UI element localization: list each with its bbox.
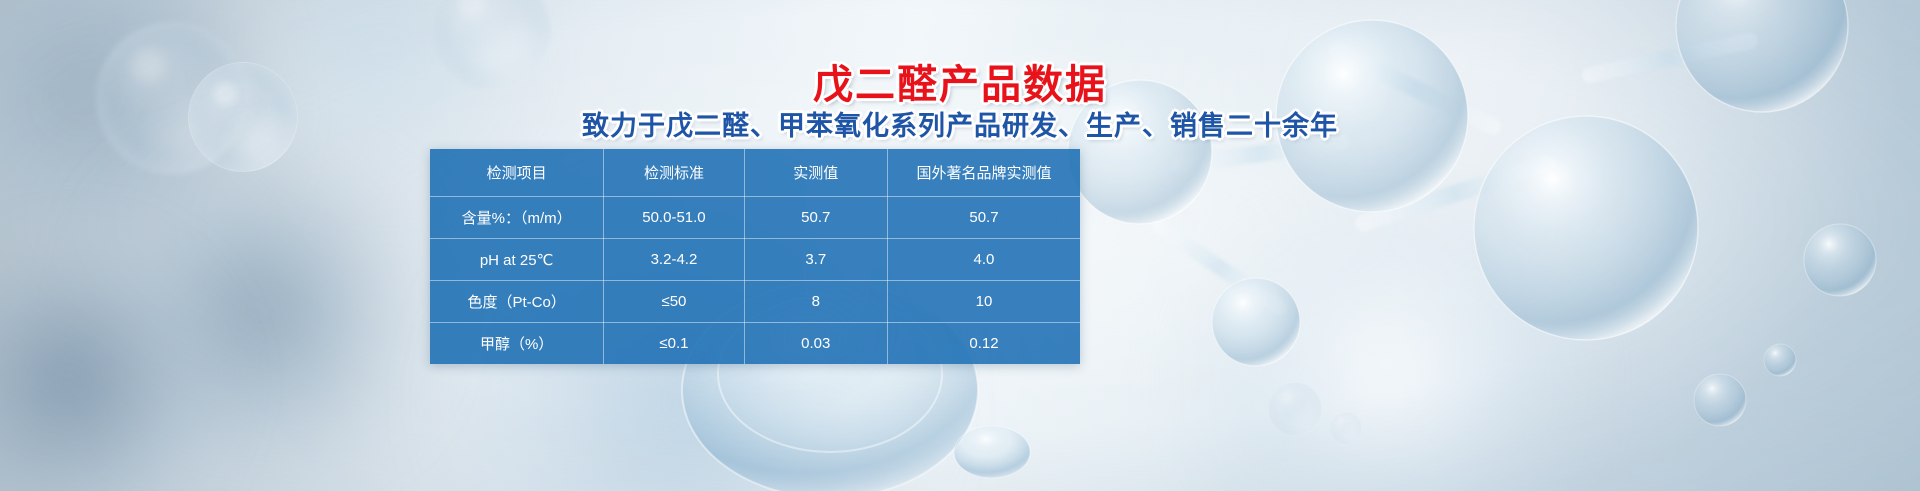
cell-test-item: 甲醇（%） xyxy=(430,323,604,365)
column-header-foreign-brand-measured-value: 国外著名品牌实测值 xyxy=(887,149,1080,197)
table-row: pH at 25℃ 3.2-4.2 3.7 4.0 xyxy=(430,239,1080,281)
cell-test-standard: 50.0-51.0 xyxy=(604,197,744,239)
cell-measured-value: 8 xyxy=(744,281,887,323)
column-header-test-standard: 检测标准 xyxy=(604,149,744,197)
cell-foreign-value: 0.12 xyxy=(887,323,1080,365)
cell-test-item: 含量%：（m/m） xyxy=(430,197,604,239)
cell-foreign-value: 50.7 xyxy=(887,197,1080,239)
spec-table-head: 检测项目 检测标准 实测值 国外著名品牌实测值 xyxy=(430,149,1080,197)
spec-table-body: 含量%：（m/m） 50.0-51.0 50.7 50.7 pH at 25℃ … xyxy=(430,197,1080,365)
table-row: 含量%：（m/m） 50.0-51.0 50.7 50.7 xyxy=(430,197,1080,239)
cell-measured-value: 3.7 xyxy=(744,239,887,281)
table-row: 甲醇（%） ≤0.1 0.03 0.12 xyxy=(430,323,1080,365)
cell-test-standard: ≤50 xyxy=(604,281,744,323)
cell-measured-value: 50.7 xyxy=(744,197,887,239)
page-title: 戊二醛产品数据 xyxy=(0,52,1920,110)
cell-test-standard: ≤0.1 xyxy=(604,323,744,365)
column-header-measured-value: 实测值 xyxy=(744,149,887,197)
product-spec-table: 检测项目 检测标准 实测值 国外著名品牌实测值 含量%：（m/m） 50.0-5… xyxy=(430,149,1080,364)
cell-foreign-value: 4.0 xyxy=(887,239,1080,281)
table-header-row: 检测项目 检测标准 实测值 国外著名品牌实测值 xyxy=(430,149,1080,197)
page-subtitle: 致力于戊二醛、甲苯氧化系列产品研发、生产、销售二十余年 xyxy=(0,104,1920,143)
cell-test-standard: 3.2-4.2 xyxy=(604,239,744,281)
cell-test-item: 色度（Pt-Co） xyxy=(430,281,604,323)
spec-table-container: 检测项目 检测标准 实测值 国外著名品牌实测值 含量%：（m/m） 50.0-5… xyxy=(430,149,1080,364)
cell-test-item: pH at 25℃ xyxy=(430,239,604,281)
cell-foreign-value: 10 xyxy=(887,281,1080,323)
column-header-test-item: 检测项目 xyxy=(430,149,604,197)
product-data-banner: 戊二醛产品数据 致力于戊二醛、甲苯氧化系列产品研发、生产、销售二十余年 检测项目… xyxy=(0,0,1920,491)
cell-measured-value: 0.03 xyxy=(744,323,887,365)
table-row: 色度（Pt-Co） ≤50 8 10 xyxy=(430,281,1080,323)
